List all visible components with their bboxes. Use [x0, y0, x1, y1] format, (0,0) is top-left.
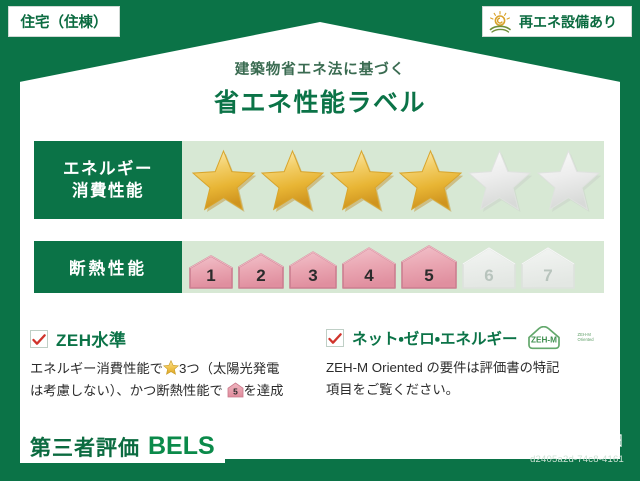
dwelling-type-tab: 住宅（住棟） — [8, 6, 120, 37]
energy-performance-label: エネルギー 消費性能 — [34, 141, 182, 219]
zeh-desc-part2: 3つ（太陽光発電 — [179, 361, 279, 376]
house-grade-filled: 3 — [288, 250, 338, 290]
evaluation-id: d2405a2d-74c8-4161 — [468, 454, 624, 465]
label-heading: 建築物省エネ法に基づく 省エネ性能ラベル — [0, 58, 640, 119]
bels-certification-badge: 第三者評価 BELS — [20, 430, 225, 463]
bels-jp-label: 第三者評価 — [30, 432, 140, 462]
zeh-m-sub-line2: Oriented — [578, 337, 594, 342]
evaluation-date: 評価日 2025年10月21日 — [468, 430, 624, 451]
insulation-grade-scale: 1234567 — [182, 241, 604, 293]
renewable-energy-badge: 再エネ設備あり — [482, 6, 632, 37]
house-grade-number: 5 — [400, 266, 458, 286]
renewable-energy-label: 再エネ設備あり — [519, 12, 617, 32]
nze-desc-line1: ZEH-M Oriented の要件は評価書の特記 — [326, 360, 559, 375]
inline-house-grade-icon: 5 — [227, 382, 244, 398]
house-grade-number: 3 — [288, 266, 338, 286]
nze-desc-line2: 項目をご覧ください。 — [326, 382, 459, 397]
star-empty-icon — [535, 148, 602, 212]
energy-label-line2: 消費性能 — [72, 180, 144, 202]
energy-performance-label: 住宅（住棟） 再エネ設備あり 建築物省エネ法に基づく 省エネ性 — [0, 0, 640, 481]
nze-heading: ネット・ゼロ・エネルギー ZEH-M ZEH-M Oriented — [326, 326, 618, 350]
energy-label-line1: エネルギー — [63, 158, 153, 180]
dwelling-type-label: 住宅（住棟） — [21, 11, 108, 32]
check-icon — [328, 332, 342, 344]
heading-subtitle: 建築物省エネ法に基づく — [0, 58, 640, 79]
house-grade-empty: 6 — [461, 246, 517, 290]
zeh-desc-part3: は考慮しない）、かつ断熱性能で — [30, 383, 223, 398]
zeh-desc-part4: を達成 — [244, 383, 284, 398]
energy-star-scale — [182, 141, 604, 219]
sun-icon — [487, 10, 515, 34]
check-icon — [32, 333, 46, 345]
zeh-heading: ZEH水準 — [30, 326, 320, 351]
zeh-description: エネルギー消費性能で3つ（太陽光発電は考慮しない）、かつ断熱性能で 5を達成 — [30, 358, 320, 401]
svg-text:ZEH-M: ZEH-M — [531, 336, 557, 345]
energy-performance-row: エネルギー 消費性能 — [34, 141, 604, 219]
house-grade-filled: 1 — [188, 254, 234, 290]
house-grade-filled: 5 — [400, 244, 458, 290]
house-grade-number: 6 — [461, 266, 517, 286]
insulation-performance-label: 断熱性能 — [34, 241, 182, 293]
zeh-m-logo-subtext: ZEH-M Oriented — [578, 333, 594, 343]
page-title: 省エネ性能ラベル — [0, 83, 640, 119]
zeh-checkbox[interactable] — [30, 330, 48, 348]
star-filled-icon — [328, 148, 395, 212]
house-grade-filled: 4 — [341, 246, 397, 290]
star-filled-icon — [397, 148, 464, 212]
house-grade-number: 4 — [341, 266, 397, 286]
inline-star-icon — [163, 360, 179, 375]
project-name: Grand Village — [222, 438, 304, 453]
evaluation-meta: 評価日 2025年10月21日 d2405a2d-74c8-4161 — [468, 430, 624, 465]
house-grade-number: 1 — [188, 266, 234, 286]
house-grade-rating: 1234567 — [188, 244, 576, 290]
svg-text:5: 5 — [233, 386, 238, 396]
house-grade-number: 7 — [520, 266, 576, 286]
zeh-title: ZEH水準 — [56, 326, 127, 351]
house-grade-filled: 2 — [237, 252, 285, 290]
star-rating — [190, 148, 602, 212]
star-filled-icon — [190, 148, 257, 212]
nze-description: ZEH-M Oriented の要件は評価書の特記 項目をご覧ください。 — [326, 357, 618, 400]
net-zero-energy-block: ネット・ゼロ・エネルギー ZEH-M ZEH-M Oriented ZEH-M … — [326, 326, 618, 400]
house-grade-empty: 7 — [520, 246, 576, 290]
star-empty-icon — [466, 148, 533, 212]
star-filled-icon — [259, 148, 326, 212]
nze-checkbox[interactable] — [326, 329, 344, 347]
zeh-standard-block: ZEH水準 エネルギー消費性能で3つ（太陽光発電は考慮しない）、かつ断熱性能で … — [30, 326, 320, 401]
zeh-desc-part1: エネルギー消費性能で — [30, 361, 163, 376]
nze-title: ネット・ゼロ・エネルギー — [352, 327, 518, 349]
house-grade-number: 2 — [237, 266, 285, 286]
zeh-m-logo-icon: ZEH-M — [526, 326, 570, 350]
insulation-performance-row: 断熱性能 1234567 — [34, 241, 604, 293]
insulation-label-text: 断熱性能 — [69, 255, 147, 279]
bels-en-label: BELS — [148, 432, 215, 461]
